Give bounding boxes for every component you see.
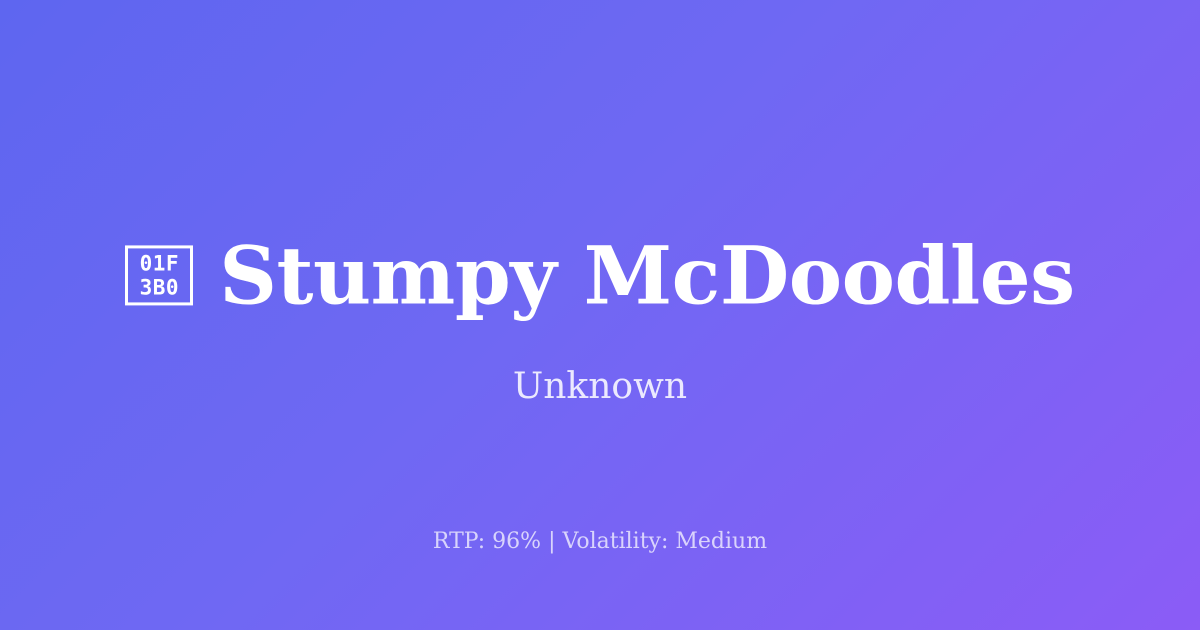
page-title: Stumpy McDoodles: [219, 235, 1074, 315]
slot-machine-icon: 01F 3B0: [125, 245, 193, 305]
game-og-card: 01F 3B0 Stumpy McDoodles Unknown RTP: 96…: [0, 0, 1200, 630]
slot-machine-icon-codepoint-bottom: 3B0: [140, 275, 179, 299]
slot-machine-icon-codepoint-top: 01F: [140, 251, 179, 275]
game-stats-line: RTP: 96% | Volatility: Medium: [0, 531, 1200, 553]
provider-label: Unknown: [0, 369, 1200, 405]
title-row: 01F 3B0 Stumpy McDoodles: [0, 181, 1200, 368]
